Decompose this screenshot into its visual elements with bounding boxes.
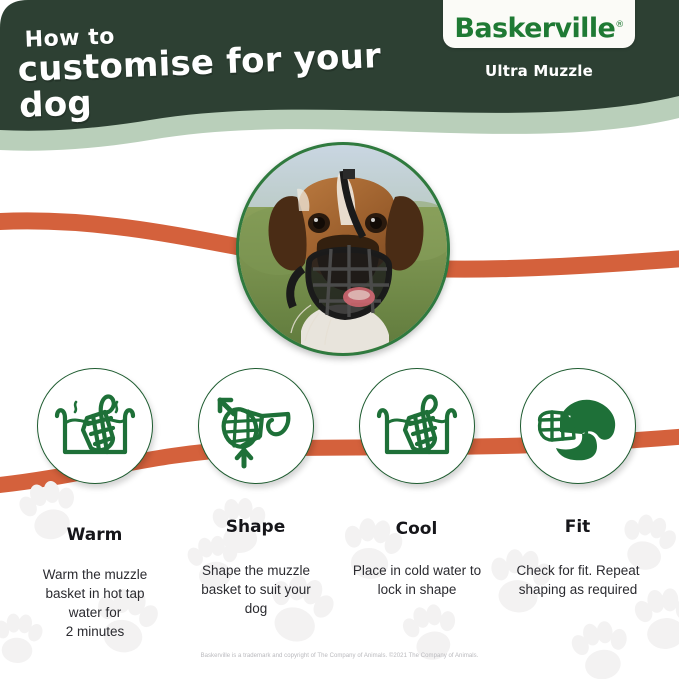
step-circle-warm — [37, 368, 153, 484]
hero-dog-photo — [236, 142, 450, 356]
muzzle-in-hot-water-basin-icon — [43, 374, 147, 478]
step-description-cool: Place in cold water to lock in shape — [332, 561, 502, 599]
title-line-two: customise for your dog — [17, 37, 439, 124]
muzzle-in-cold-water-basin-icon — [365, 374, 469, 478]
step-description-fit: Check for fit. Repeat shaping as require… — [493, 561, 663, 599]
step-label-cool: Cool — [336, 519, 497, 539]
step-label-fit: Fit — [497, 517, 658, 537]
infographic-page: How to customise for your dog Baskervill… — [0, 0, 679, 679]
product-sub-brand: Ultra Muzzle — [443, 62, 635, 80]
step-circle-fit — [520, 368, 636, 484]
step-label-shape: Shape — [175, 517, 336, 537]
header: How to customise for your dog Baskervill… — [0, 0, 679, 160]
dog-with-muzzle-photo — [239, 145, 447, 353]
step-label-warm: Warm — [14, 525, 175, 545]
step-description-warm: Warm the muzzle basket in hot tap water … — [10, 565, 180, 642]
brand-logo-card: Baskerville® — [443, 0, 635, 48]
page-title: How to customise for your dog — [16, 14, 439, 124]
dog-head-wearing-muzzle-icon — [526, 374, 630, 478]
step-circle-cool — [359, 368, 475, 484]
registered-trademark-icon: ® — [615, 20, 623, 30]
brand-logo-wordmark: Baskerville — [454, 13, 615, 44]
step-description-shape: Shape the muzzle basket to suit your dog — [171, 561, 341, 618]
legal-footer: Baskerville is a trademark and copyright… — [0, 653, 679, 659]
muzzle-squeeze-arrows-icon — [204, 374, 308, 478]
step-icon-row — [0, 368, 679, 488]
brand-logo-text: Baskerville® — [454, 13, 623, 44]
step-circle-shape — [198, 368, 314, 484]
